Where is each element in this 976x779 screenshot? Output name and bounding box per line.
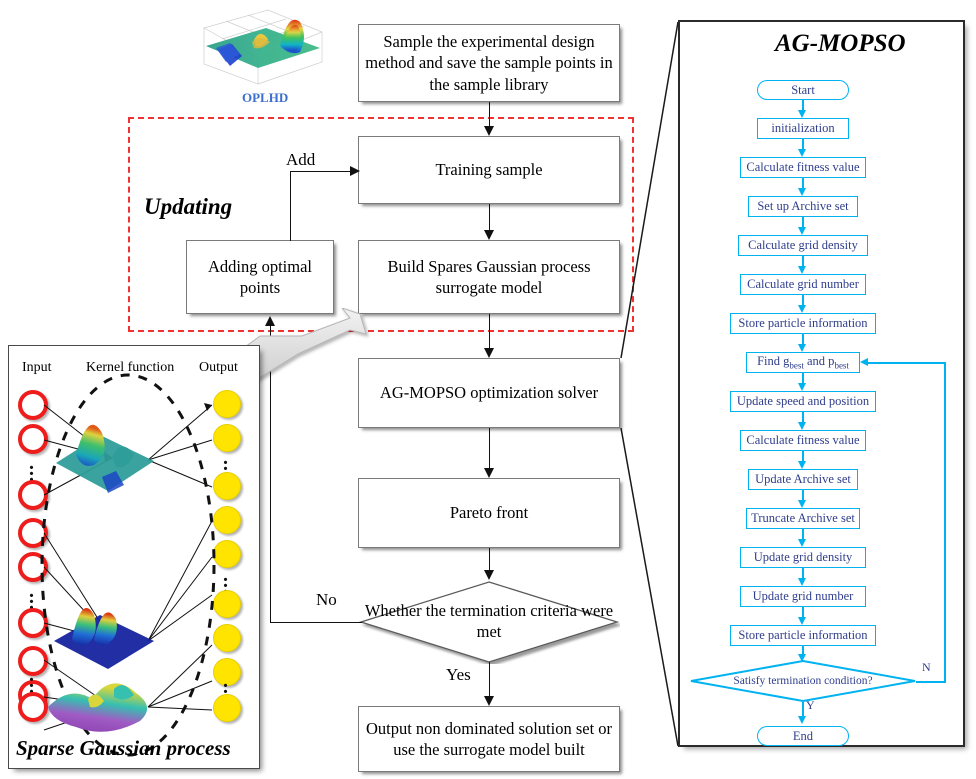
agmopso-connector [802, 178, 804, 188]
agmopso-step-update-speed-position-label: Update speed and position [737, 394, 869, 409]
agmopso-connector [802, 412, 804, 422]
agmopso-step-update-grid-number[interactable]: Update grid number [740, 586, 866, 607]
flow-box-training-sample-label: Training sample [435, 159, 542, 180]
agmopso-connector [802, 451, 804, 461]
agmopso-step-start[interactable]: Start [757, 80, 849, 100]
agmopso-connector [802, 607, 804, 617]
agmopso-arrow [798, 500, 806, 508]
agmopso-step-calc-grid-density[interactable]: Calculate grid density [738, 235, 868, 256]
flow-box-pareto-front-label: Pareto front [450, 502, 528, 523]
agmopso-step-store-particle-2[interactable]: Store particle information [730, 625, 876, 646]
agmopso-branch-label-yes: Y [806, 698, 815, 713]
flow-box-agmopso-solver-label: AG-MOPSO optimization solver [380, 382, 598, 403]
updating-label: Updating [144, 194, 232, 220]
agmopso-connector [802, 373, 804, 383]
agmopso-arrow [798, 110, 806, 118]
agmopso-connector [802, 139, 804, 149]
connector-decision-to-output [489, 662, 490, 696]
arrow-decision-to-output [484, 696, 494, 706]
agmopso-connector-yes [802, 702, 804, 716]
flow-decision-termination[interactable]: Whether the termination criteria were me… [358, 580, 620, 664]
agmopso-step-end[interactable]: End [757, 726, 849, 746]
agmopso-arrow [798, 617, 806, 625]
agmopso-loop-right [944, 362, 946, 682]
agmopso-loop-bottom [916, 681, 946, 683]
flow-box-build-surrogate[interactable]: Build Spares Gaussian process surrogate … [358, 240, 620, 314]
agmopso-arrow [798, 305, 806, 313]
edge-label-add: Add [286, 150, 315, 170]
agmopso-step-initialization[interactable]: initialization [757, 118, 849, 139]
agmopso-step-calc-grid-number[interactable]: Calculate grid number [740, 274, 866, 295]
agmopso-step-calc-grid-number-label: Calculate grid number [747, 277, 859, 292]
figure-canvas: OPLHD Updating Sample the experimental d… [0, 0, 976, 779]
agmopso-connector [802, 334, 804, 344]
flow-box-adding-optimal-points[interactable]: Adding optimal points [186, 240, 334, 314]
agmopso-connector [802, 295, 804, 305]
agmopso-branch-label-no: N [922, 660, 931, 675]
agmopso-arrow [798, 461, 806, 469]
agmopso-step-update-archive-label: Update Archive set [755, 472, 851, 487]
connector-sample-to-training [489, 102, 490, 126]
sparse-panel-caption: Sparse Gaussian process [16, 736, 231, 761]
agmopso-decision-satisfy[interactable]: Satisfy termination condition? [690, 660, 916, 702]
agmopso-arrow [798, 422, 806, 430]
agmopso-step-find-gbest-pbest-label: Find gbest and pbest [757, 354, 849, 371]
agmopso-arrow [798, 266, 806, 274]
agmopso-step-setup-archive-label: Set up Archive set [757, 199, 848, 214]
agmopso-step-store-particle-1-label: Store particle information [738, 316, 867, 331]
agmopso-step-update-grid-density-label: Update grid density [754, 550, 853, 565]
edge-label-no: No [316, 590, 337, 610]
connector-add-horizontal [290, 171, 350, 172]
oplhd-label: OPLHD [242, 90, 288, 106]
agmopso-panel-title: AG-MOPSO [775, 30, 906, 58]
flow-box-agmopso-solver[interactable]: AG-MOPSO optimization solver [358, 358, 620, 428]
agmopso-step-calculate-fitness-1[interactable]: Calculate fitness value [740, 157, 866, 178]
flow-box-adding-optimal-points-label: Adding optimal points [193, 256, 327, 299]
agmopso-loop-top [868, 362, 946, 364]
flow-box-pareto-front[interactable]: Pareto front [358, 478, 620, 548]
oplhd-surface-plot [196, 6, 328, 88]
agmopso-step-calculate-fitness-2-label: Calculate fitness value [746, 433, 859, 448]
edge-label-yes: Yes [446, 665, 471, 685]
agmopso-arrow [798, 188, 806, 196]
flow-box-sample-label: Sample the experimental design method an… [365, 31, 613, 95]
connector-no-horizontal [270, 622, 362, 623]
agmopso-connector [802, 568, 804, 578]
arrow-build-to-solver [484, 348, 494, 358]
agmopso-connector [802, 256, 804, 266]
agmopso-arrow [798, 227, 806, 235]
arrow-solver-to-pareto [484, 468, 494, 478]
agmopso-step-update-speed-position[interactable]: Update speed and position [730, 391, 876, 412]
arrow-sample-to-training [484, 126, 494, 136]
agmopso-step-find-gbest-pbest[interactable]: Find gbest and pbest [746, 352, 860, 373]
agmopso-step-calc-grid-density-label: Calculate grid density [748, 238, 858, 253]
agmopso-step-calculate-fitness-2[interactable]: Calculate fitness value [740, 430, 866, 451]
connector-build-to-solver [489, 314, 490, 348]
agmopso-connector [802, 490, 804, 500]
agmopso-loop-arrow [860, 358, 868, 366]
connector-solver-to-pareto [489, 428, 490, 468]
agmopso-arrow [798, 149, 806, 157]
agmopso-step-initialization-label: initialization [771, 121, 834, 136]
agmopso-step-calculate-fitness-1-label: Calculate fitness value [746, 160, 859, 175]
agmopso-step-store-particle-1[interactable]: Store particle information [730, 313, 876, 334]
agmopso-step-start-label: Start [791, 83, 815, 98]
agmopso-decision-satisfy-label: Satisfy termination condition? [690, 660, 916, 702]
flow-box-output-label: Output non dominated solution set or use… [365, 718, 613, 761]
agmopso-arrow-yes [798, 716, 806, 724]
agmopso-connector [802, 217, 804, 227]
arrow-pareto-to-decision [484, 570, 494, 580]
arrow-add-to-training [350, 166, 360, 176]
kernel-function-graphic [8, 345, 260, 769]
agmopso-step-setup-archive[interactable]: Set up Archive set [748, 196, 858, 217]
agmopso-step-truncate-archive-label: Truncate Archive set [751, 511, 855, 526]
agmopso-connector [802, 529, 804, 539]
connector-pareto-to-decision [489, 548, 490, 570]
agmopso-arrow [798, 383, 806, 391]
agmopso-connector [802, 646, 804, 654]
agmopso-arrow [798, 344, 806, 352]
agmopso-step-end-label: End [793, 729, 813, 744]
flow-box-build-surrogate-label: Build Spares Gaussian process surrogate … [365, 256, 613, 299]
agmopso-step-update-archive[interactable]: Update Archive set [748, 469, 858, 490]
agmopso-connector [802, 100, 804, 110]
arrow-training-to-build [484, 230, 494, 240]
agmopso-arrow [798, 578, 806, 586]
flow-box-output[interactable]: Output non dominated solution set or use… [358, 706, 620, 772]
agmopso-step-update-grid-number-label: Update grid number [753, 589, 854, 604]
agmopso-step-update-grid-density[interactable]: Update grid density [740, 547, 866, 568]
agmopso-step-store-particle-2-label: Store particle information [738, 628, 867, 643]
agmopso-step-truncate-archive[interactable]: Truncate Archive set [746, 508, 860, 529]
flow-box-sample[interactable]: Sample the experimental design method an… [358, 24, 620, 102]
agmopso-arrow [798, 539, 806, 547]
connector-training-to-build [489, 204, 490, 230]
connector-add-vertical [290, 171, 291, 241]
flow-box-training-sample[interactable]: Training sample [358, 136, 620, 204]
